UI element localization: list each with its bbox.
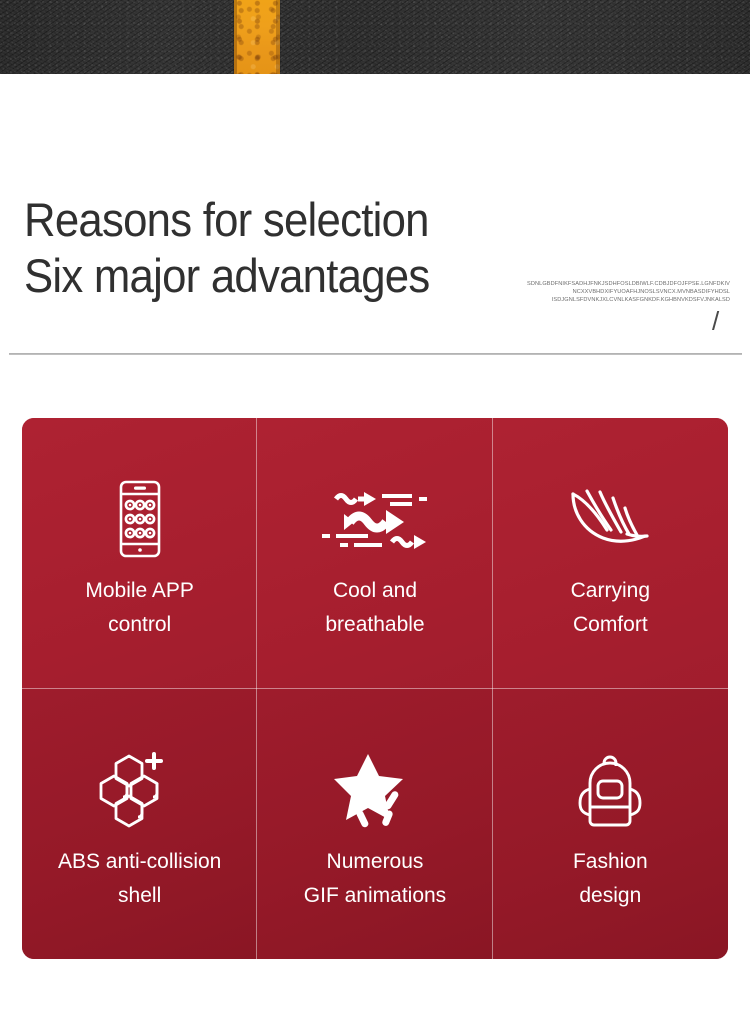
- feature-label-line-1: Fashion: [573, 850, 648, 873]
- feature-label-line-2: control: [108, 613, 171, 636]
- smartphone-keypad-icon: [22, 480, 257, 558]
- feature-label: Carrying Comfort: [571, 574, 650, 642]
- page-root: Reasons for selection Six major advantag…: [0, 0, 750, 1019]
- feature-label-line-1: Cool and: [333, 579, 417, 602]
- filler-line-3: ISDJGNLSFDVNKJXLCVNLKASFGNKDF.KGHBNVKDSF…: [518, 296, 730, 304]
- title-line-1: Reasons for selection: [24, 193, 429, 246]
- asphalt-texture: [0, 0, 750, 74]
- feature-cell-abs-shell[interactable]: ABS anti-collision shell: [22, 689, 257, 960]
- yellow-road-line: [234, 0, 280, 74]
- filler-line-1: SDNLGBDFNIKFSADHJFNKJSDHFOSLDBIWLF.CDBJD…: [518, 280, 730, 288]
- feature-label-line-2: GIF animations: [304, 884, 446, 907]
- feature-cell-fashion-design[interactable]: Fashion design: [493, 689, 728, 960]
- backpack-icon: [493, 751, 728, 829]
- honeycomb-plus-icon: [22, 751, 257, 829]
- feature-label: Numerous GIF animations: [304, 845, 446, 913]
- page-title: Reasons for selection Six major advantag…: [24, 192, 429, 304]
- feature-label: Mobile APP control: [85, 574, 194, 642]
- filler-placeholder-text: SDNLGBDFNIKFSADHJFNKJSDHFOSLDBIWLF.CDBJD…: [518, 280, 730, 304]
- feather-icon: [493, 480, 728, 558]
- feature-label: Fashion design: [573, 845, 648, 913]
- road-line-texture: [234, 0, 280, 74]
- feature-label-line-1: Carrying: [571, 579, 650, 602]
- feature-label-line-1: ABS anti-collision: [58, 850, 221, 873]
- heading-section: Reasons for selection Six major advantag…: [0, 74, 750, 418]
- feature-label-line-2: shell: [118, 884, 161, 907]
- feature-label-line-1: Mobile APP: [85, 579, 194, 602]
- feature-label-line-2: breathable: [325, 613, 424, 636]
- horizontal-divider: [9, 353, 742, 355]
- feature-label: ABS anti-collision shell: [58, 845, 221, 913]
- feature-cell-cool-breathable[interactable]: Cool and breathable: [257, 418, 492, 689]
- feature-grid: Mobile APP control: [22, 418, 728, 959]
- filler-line-2: NCXXVBHDXIFYUOAFHJNOSLSVNCX.MVNBASDIFYHD…: [518, 288, 730, 296]
- road-banner-image: [0, 0, 750, 74]
- star-sparkle-icon: [257, 751, 492, 829]
- feature-label: Cool and breathable: [325, 574, 424, 642]
- feature-cell-gif-animations[interactable]: Numerous GIF animations: [257, 689, 492, 960]
- title-line-2: Six major advantages: [24, 248, 429, 304]
- road-line-edge-right: [276, 0, 280, 74]
- airflow-wind-arrows-icon: [257, 480, 492, 558]
- feature-label-line-2: Comfort: [573, 613, 648, 636]
- slash-mark: /: [712, 306, 719, 337]
- feature-cell-mobile-app[interactable]: Mobile APP control: [22, 418, 257, 689]
- feature-cell-carrying-comfort[interactable]: Carrying Comfort: [493, 418, 728, 689]
- feature-label-line-1: Numerous: [327, 850, 424, 873]
- feature-label-line-2: design: [579, 884, 641, 907]
- road-line-edge-left: [234, 0, 237, 74]
